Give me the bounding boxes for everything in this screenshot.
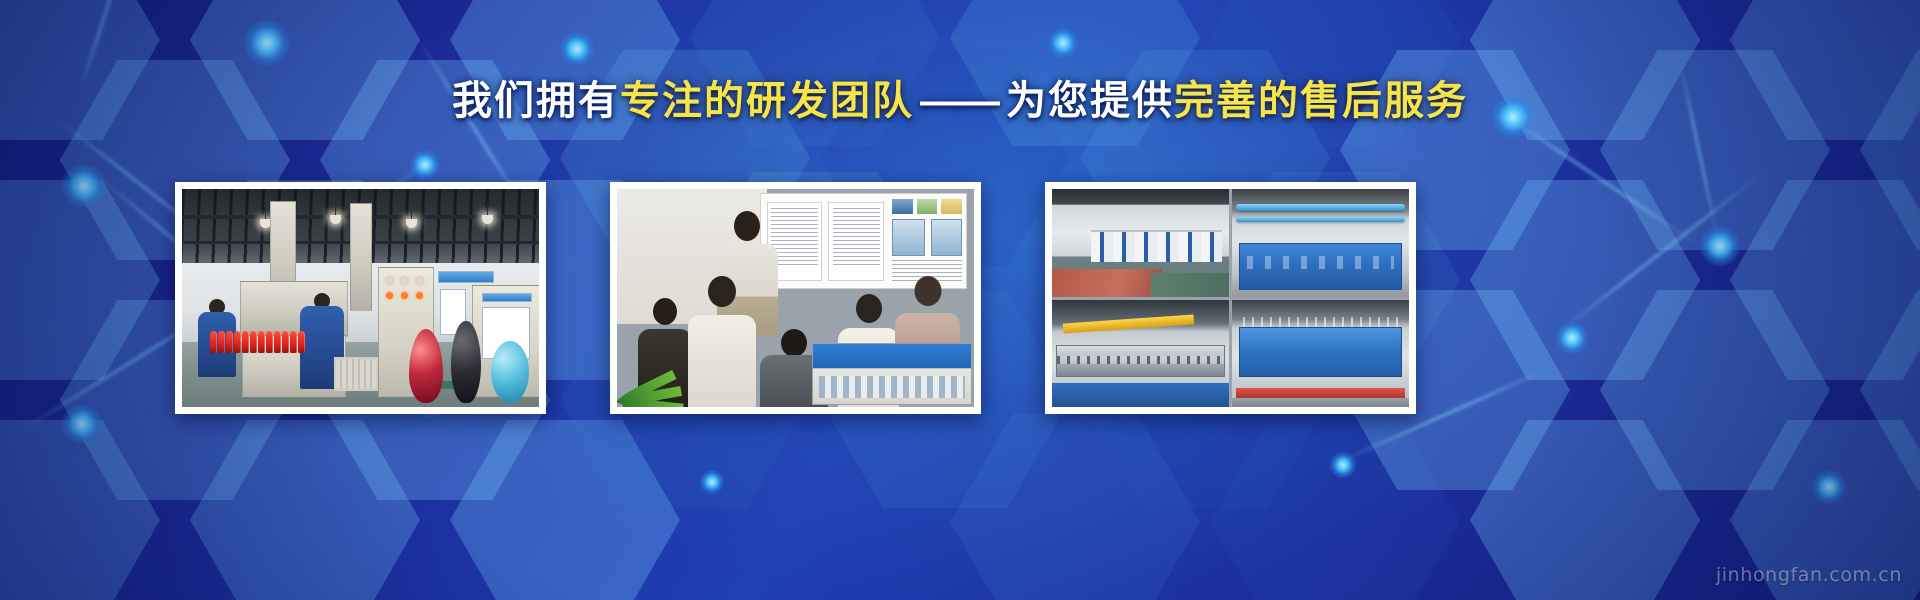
page-title: 我们拥有专注的研发团队——为您提供完善的售后服务 bbox=[452, 78, 1468, 124]
indicator-light bbox=[401, 292, 408, 299]
headline-container: 我们拥有专注的研发团队——为您提供完善的售后服务 bbox=[0, 78, 1920, 124]
poster-diagram bbox=[892, 219, 925, 257]
conveyor-line bbox=[1056, 345, 1226, 377]
equipment-row bbox=[1091, 230, 1222, 262]
blue-pipe bbox=[1236, 204, 1406, 211]
person-head bbox=[914, 276, 941, 306]
blue-pipe bbox=[1236, 217, 1406, 222]
machine-inset-photo bbox=[812, 343, 972, 405]
blue-base-frame bbox=[1052, 383, 1229, 407]
indicator-light bbox=[416, 292, 423, 299]
vase-red bbox=[409, 329, 443, 403]
photo-card-row bbox=[0, 182, 1920, 414]
collage-cell-blue-oven bbox=[1232, 189, 1409, 297]
control-knob bbox=[401, 277, 408, 284]
person-head bbox=[653, 298, 677, 325]
red-floor-area bbox=[1052, 269, 1162, 297]
poster-thumbnail bbox=[941, 199, 962, 214]
parts-crate bbox=[334, 357, 378, 391]
title-separator-dash: —— bbox=[914, 79, 1006, 123]
collage-cell-workshop-aisle bbox=[1052, 189, 1229, 297]
photo-equipment-collage bbox=[1052, 189, 1409, 407]
title-segment-highlight-2: 完善的售后服务 bbox=[1174, 79, 1468, 123]
poster-text-lines bbox=[771, 208, 818, 266]
promo-banner: 我们拥有专注的研发团队——为您提供完善的售后服务 bbox=[0, 0, 1920, 600]
photo-production-line bbox=[182, 189, 539, 407]
green-floor-area bbox=[1151, 273, 1229, 297]
site-watermark: jinhongfan.com.cn bbox=[1716, 564, 1902, 586]
photo-card-team-meeting[interactable] bbox=[610, 182, 981, 414]
photo-card-equipment-collage[interactable] bbox=[1045, 182, 1416, 414]
exhaust-duct bbox=[350, 203, 372, 311]
person-head bbox=[781, 329, 807, 357]
poster-thumbnail bbox=[917, 199, 938, 214]
machine-nameplate bbox=[438, 271, 494, 283]
person-head bbox=[734, 211, 760, 241]
vase-black bbox=[451, 321, 481, 403]
vase-blue bbox=[491, 341, 529, 403]
oven-nameplate bbox=[482, 293, 532, 302]
photo-team-meeting bbox=[617, 189, 974, 407]
title-segment-plain-2: 为您提供 bbox=[1006, 79, 1174, 123]
workshop-floor bbox=[1232, 398, 1409, 407]
poster-board bbox=[760, 193, 967, 289]
collage-cell-hanging-line bbox=[1232, 300, 1409, 408]
collage-cell-conveyor bbox=[1052, 300, 1229, 408]
blue-conveyor-rig bbox=[1239, 327, 1402, 376]
poster-diagram bbox=[931, 219, 962, 257]
control-knob bbox=[386, 277, 393, 284]
control-knob bbox=[416, 277, 423, 284]
person-head bbox=[708, 276, 736, 307]
title-segment-highlight-1: 专注的研发团队 bbox=[620, 79, 914, 123]
blue-oven-tunnel bbox=[1239, 243, 1402, 290]
indicator-light bbox=[386, 292, 393, 299]
red-bottle-row bbox=[210, 331, 322, 353]
yellow-crane-beam bbox=[1062, 314, 1193, 333]
person-head bbox=[856, 294, 882, 323]
poster-text-lines bbox=[833, 208, 880, 266]
poster-thumbnail bbox=[892, 199, 913, 214]
photo-card-production-line[interactable] bbox=[175, 182, 546, 414]
potted-plant bbox=[619, 329, 729, 407]
title-segment-plain-1: 我们拥有 bbox=[452, 79, 620, 123]
